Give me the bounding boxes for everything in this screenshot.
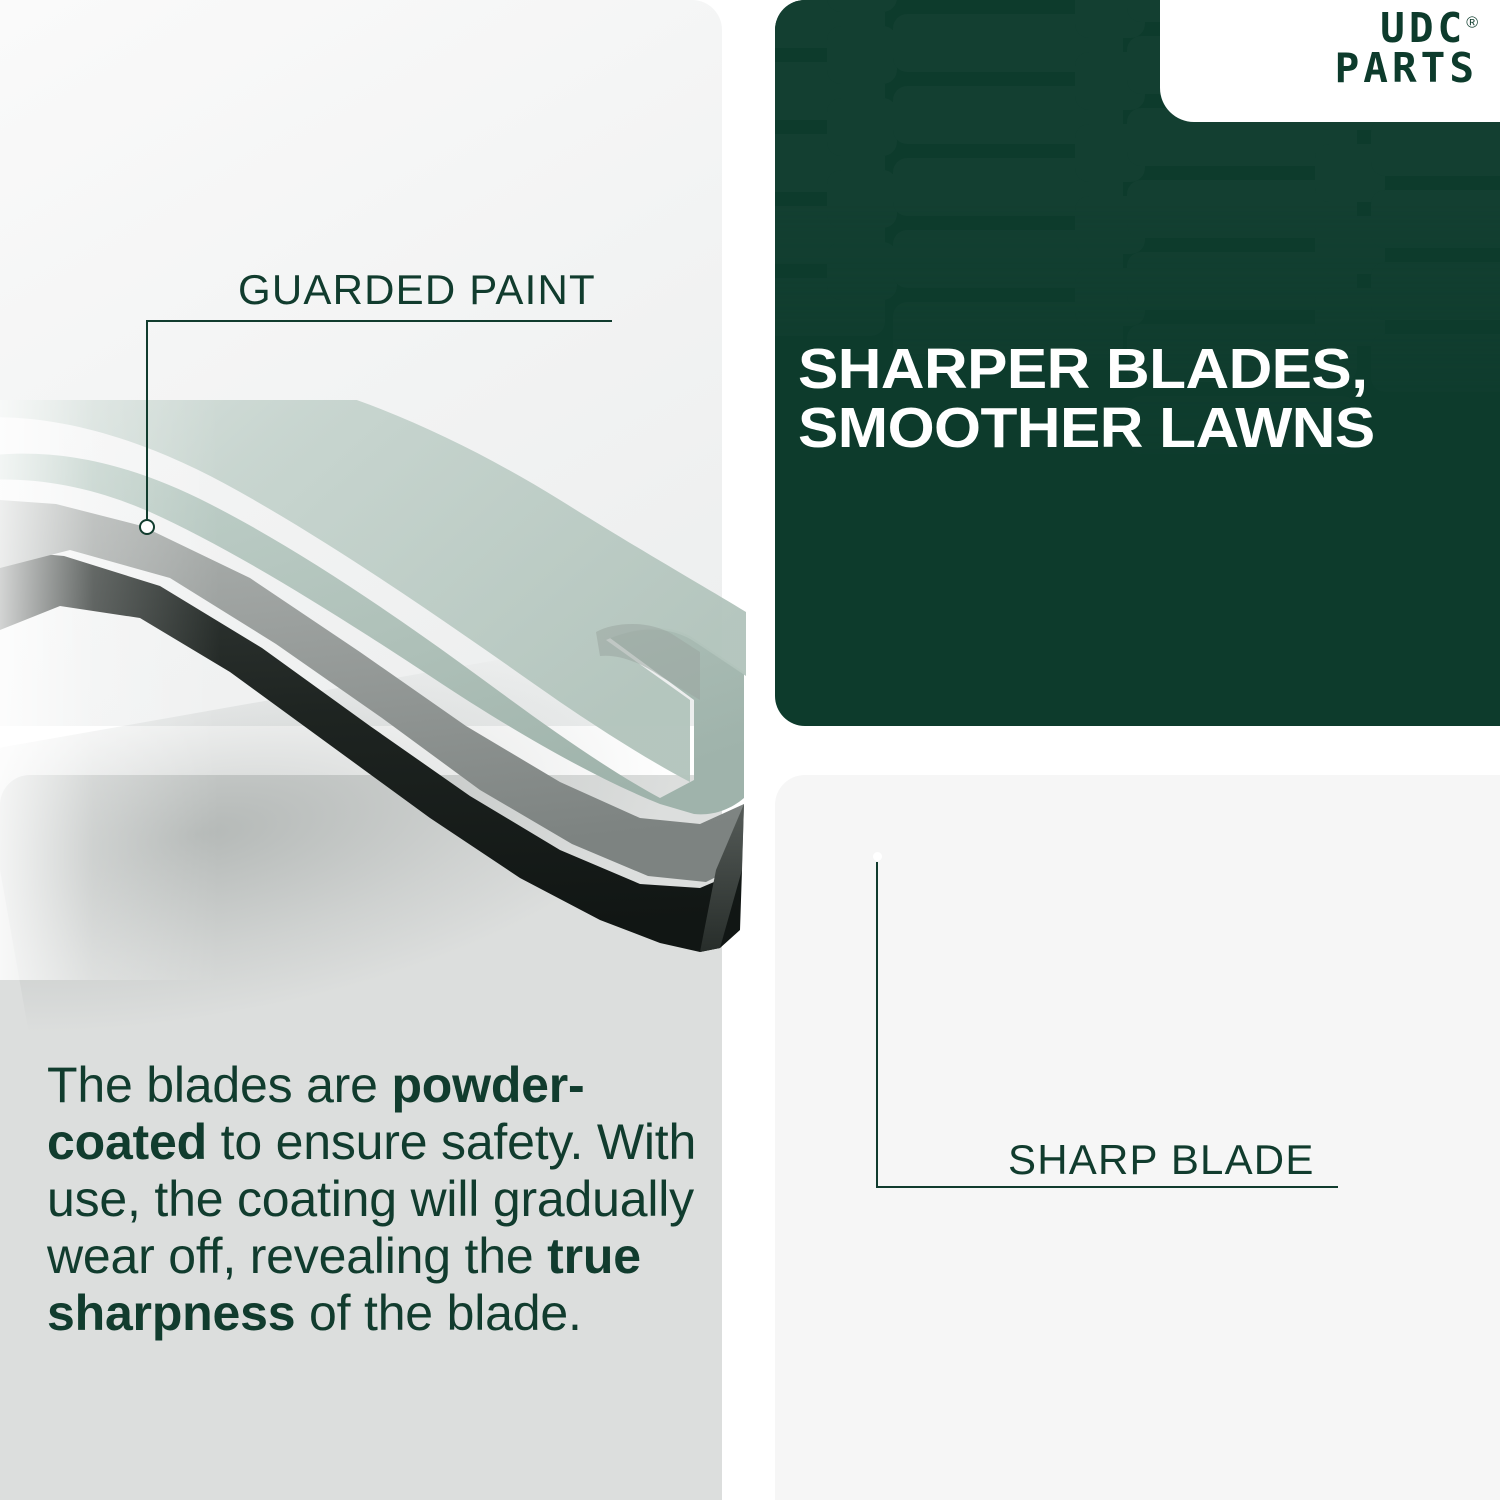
brand-logo: UDC® PARTS bbox=[1335, 8, 1478, 88]
page-headline: SHARPER BLADES, SMOOTHER LAWNS bbox=[798, 340, 1500, 459]
callout-leader-horizontal-sharp-blade bbox=[876, 1186, 1338, 1188]
circle-marker-icon-guarded-paint bbox=[139, 519, 155, 535]
headline-line-2: SMOOTHER LAWNS bbox=[798, 399, 1500, 458]
callout-leader-vertical-sharp-blade bbox=[876, 862, 878, 1188]
brand-logo-badge[interactable]: UDC® PARTS bbox=[1160, 0, 1500, 122]
panel-top-left bbox=[0, 0, 722, 726]
callout-leader-vertical-guarded-paint bbox=[146, 320, 148, 528]
callout-label-guarded-paint: GUARDED PAINT bbox=[238, 266, 596, 314]
body-segment-1: The blades are bbox=[47, 1057, 391, 1113]
logo-wordmark-line2: PARTS bbox=[1335, 48, 1478, 88]
body-segment-3: of the blade. bbox=[295, 1285, 581, 1341]
infographic-canvas: UDC® PARTS SHARPER BLADES, SMOOTHER LAWN… bbox=[0, 0, 1500, 1500]
headline-line-1: SHARPER BLADES, bbox=[798, 340, 1500, 399]
logo-wordmark-line1: UDC® bbox=[1335, 8, 1478, 48]
callout-leader-horizontal-guarded-paint bbox=[146, 320, 612, 322]
callout-label-sharp-blade: SHARP BLADE bbox=[1008, 1136, 1315, 1184]
body-paragraph: The blades are powder-coated to ensure s… bbox=[47, 1057, 702, 1342]
registered-trademark-icon: ® bbox=[1466, 14, 1478, 31]
dot-marker-icon-sharp-blade bbox=[873, 852, 882, 861]
